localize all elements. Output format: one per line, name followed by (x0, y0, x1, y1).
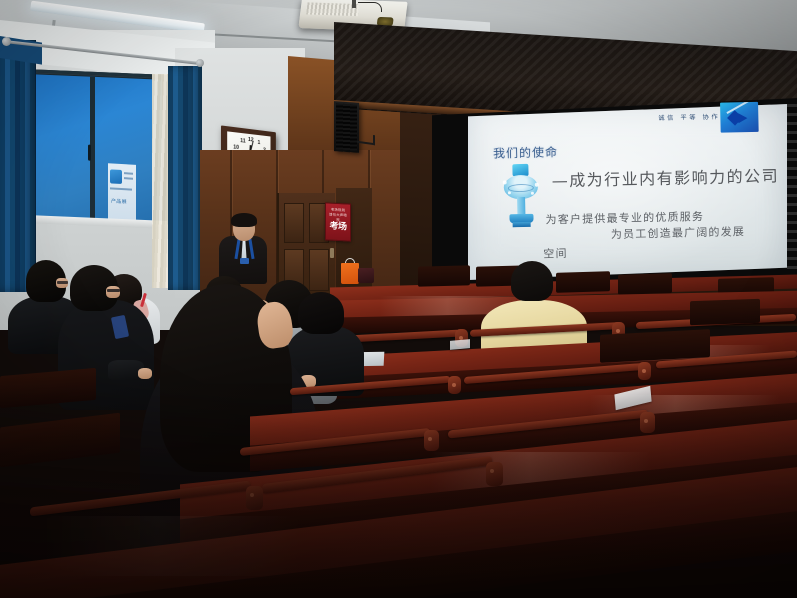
seat-back[interactable] (690, 299, 760, 325)
door-handle[interactable] (330, 248, 334, 258)
logo-streak (726, 102, 751, 114)
trophy-cup-icon (499, 164, 542, 231)
sign-big-text: 考场 (327, 220, 349, 231)
presenter-hair (231, 213, 257, 227)
attendee-dark-right-head (298, 292, 344, 334)
glasses-icon (57, 281, 68, 284)
logo-arrow (738, 113, 747, 123)
company-logo-icon (720, 102, 759, 133)
projector-cable (358, 2, 382, 12)
curtain-rod-finial (196, 59, 204, 67)
speaker-grill (336, 103, 357, 150)
attendee-hand (138, 368, 152, 379)
slide-line-3: 空间 (543, 245, 568, 262)
window-pane: 产品展 (32, 74, 162, 221)
seat-knob (638, 362, 651, 380)
attendee-cream-puffer-head (511, 261, 553, 301)
seat-back[interactable] (418, 265, 470, 286)
seat-back[interactable] (618, 273, 672, 295)
window-handle[interactable] (88, 145, 91, 161)
curtain-right[interactable] (168, 66, 202, 290)
seat-back-foreground[interactable] (0, 413, 120, 468)
poster-text: 产品展 (111, 197, 127, 205)
exam-room-sign: 考场规则 请勿大声喧哗 考场 (325, 202, 351, 241)
slide-content: 诚信 平等 协作 创新 我们的使命 —成为行业内有影响力的公司 为客户提供最专业… (430, 94, 797, 294)
seat-back[interactable] (556, 271, 610, 293)
seat-back[interactable] (600, 329, 710, 363)
trophy-stem (517, 197, 525, 215)
seat-knob (424, 430, 439, 451)
clock-numeral: 1 (258, 140, 261, 146)
loose-paper (450, 339, 470, 350)
seat-knob (640, 412, 655, 433)
clock-numeral: 11 (240, 138, 245, 145)
wall-poster-through-window: 产品展 (108, 163, 136, 221)
trophy-base-lower (513, 222, 531, 227)
wall-speaker (334, 101, 359, 153)
projector-mount (352, 0, 356, 8)
poster-badge-icon (110, 169, 122, 184)
orange-shopping-bag (341, 263, 359, 284)
presenter-badge (240, 258, 249, 264)
window: 产品展 (27, 69, 167, 227)
seat-knob (448, 376, 461, 394)
seat-knob (246, 486, 263, 510)
curtain-rod-finial (2, 37, 11, 46)
slide-line-2: 为员工创造最广阔的发展 (611, 223, 746, 242)
slide-headline: —成为行业内有影响力的公司 (551, 162, 779, 191)
curtain-left[interactable] (0, 40, 36, 292)
seat-knob (486, 462, 503, 486)
attendee-face (106, 286, 120, 298)
glasses-icon (107, 289, 120, 292)
slide-title: 我们的使命 (493, 143, 558, 161)
dark-bag (358, 268, 374, 283)
lecture-hall-photo: 产品展 12 1 2 3 4 5 6 7 8 9 10 11 (0, 0, 797, 598)
